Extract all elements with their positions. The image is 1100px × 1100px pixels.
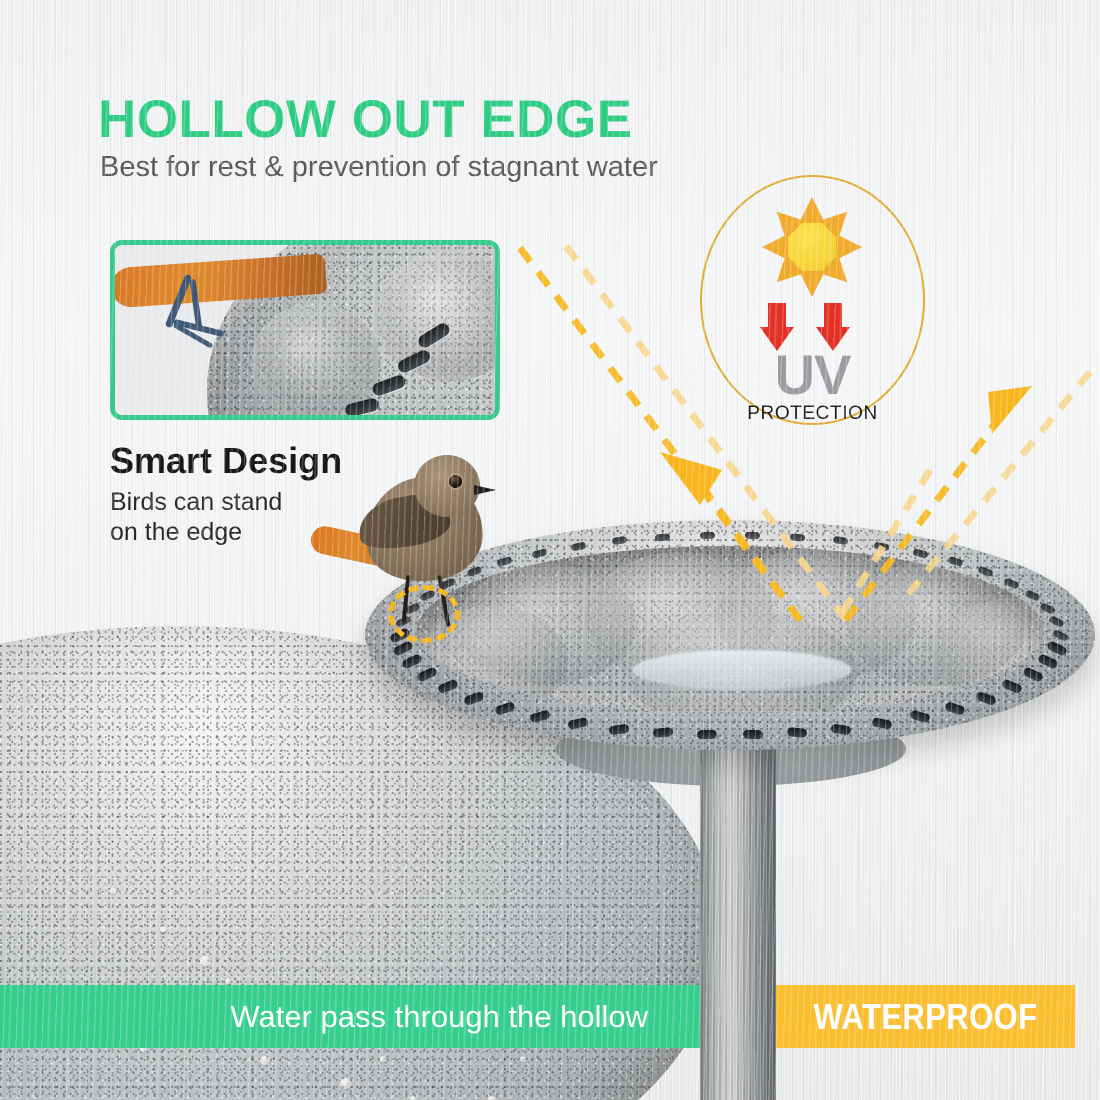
perching-bird xyxy=(318,445,533,630)
banner-water-pass-label: Water pass through the hollow xyxy=(230,999,648,1035)
banner-waterproof: WATERPROOF xyxy=(776,985,1075,1048)
uv-label: UV xyxy=(700,347,925,403)
sun-ray xyxy=(799,271,825,297)
smart-design-description: Birds can stand on the edge xyxy=(110,488,282,547)
inset-lobe-2 xyxy=(251,303,381,415)
bird-eye xyxy=(449,475,462,488)
water-droplet xyxy=(488,1096,496,1100)
water-droplet xyxy=(520,1056,526,1062)
pedestal-stem xyxy=(700,735,776,1100)
smart-design-line-1: Birds can stand xyxy=(110,488,282,518)
feet-highlight-ring xyxy=(388,585,460,643)
water-droplet xyxy=(110,888,116,894)
banner-water-pass: Water pass through the hollow xyxy=(0,985,700,1048)
bird-head xyxy=(414,455,480,517)
page-subtitle: Best for rest & prevention of stagnant w… xyxy=(100,152,658,184)
water-droplet xyxy=(410,1096,417,1100)
arrowhead-right xyxy=(988,386,1032,434)
uv-protection-label: PROTECTION xyxy=(700,403,925,425)
rim-slot xyxy=(697,730,717,740)
water-droplet xyxy=(340,1078,352,1089)
inset-photo xyxy=(115,245,495,415)
smart-design-line-2: on the edge xyxy=(110,518,282,548)
standing-water xyxy=(632,650,852,690)
rim-slot xyxy=(745,531,760,538)
rim-slot xyxy=(655,533,671,541)
hollow-edge-inset-card xyxy=(110,240,500,420)
smart-design-title: Smart Design xyxy=(110,440,342,482)
water-droplet xyxy=(380,1056,386,1062)
water-droplet xyxy=(225,978,231,984)
uv-protection-badge: UV PROTECTION xyxy=(700,175,925,440)
infographic-canvas: UV PROTECTION HOLLOW OUT EDGE Best for r… xyxy=(0,0,1100,1100)
water-droplet xyxy=(200,956,211,966)
rim-slot xyxy=(742,730,762,740)
rim-slot xyxy=(789,533,805,541)
bird-beak xyxy=(474,485,496,495)
arrowhead-left xyxy=(660,452,722,505)
banner-waterproof-label: WATERPROOF xyxy=(797,996,1054,1038)
page-title: HOLLOW OUT EDGE xyxy=(98,93,633,146)
rim-slot xyxy=(700,531,715,538)
sun-icon xyxy=(762,197,862,297)
